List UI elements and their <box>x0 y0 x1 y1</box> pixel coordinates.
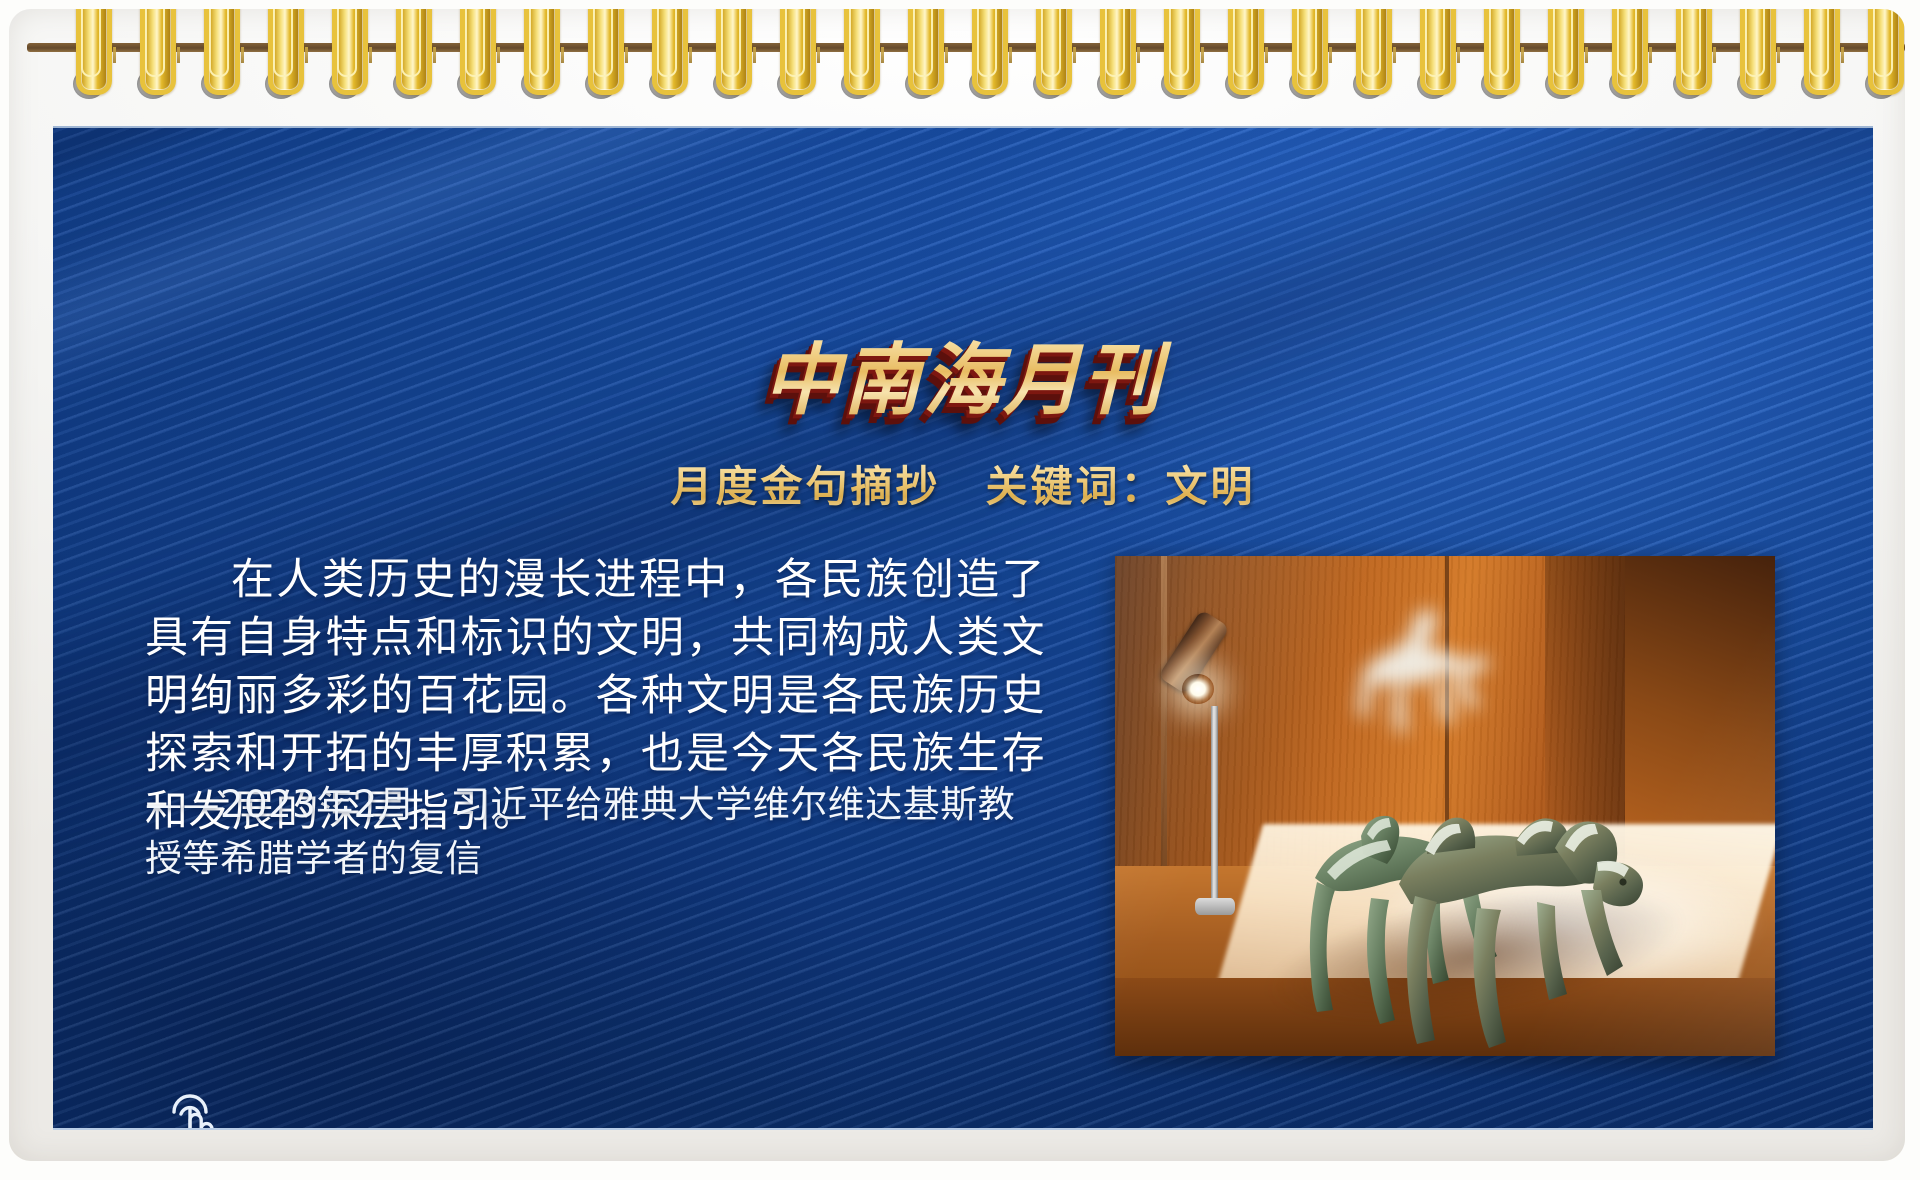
page-subtitle: 月度金句摘抄 关键词：文明 <box>53 453 1873 514</box>
spiral-ring <box>1539 9 1583 117</box>
ring-tick <box>1073 47 1076 63</box>
spiral-ring <box>451 9 495 117</box>
ring-wire-highlight <box>977 9 997 77</box>
ring-tick <box>625 47 628 63</box>
ring-wire-highlight <box>1041 9 1061 77</box>
ring-wire-highlight <box>1233 9 1253 77</box>
spiral-ring <box>1411 9 1455 117</box>
ring-wire-highlight <box>401 9 421 77</box>
spiral-ring <box>1283 9 1327 117</box>
museum-photo <box>1115 556 1775 1056</box>
page-surface: 中南海月刊 月度金句摘抄 关键词：文明 在人类历史的漫长进程中，各民族创造了具有… <box>9 9 1905 1161</box>
ring-tick <box>369 47 372 63</box>
ring-tick <box>1585 47 1588 63</box>
ring-wire-highlight <box>913 9 933 77</box>
spiral-ring <box>707 9 751 117</box>
spiral-ring <box>131 9 175 117</box>
spiral-ring <box>1091 9 1135 117</box>
ring-tick <box>305 47 308 63</box>
ring-tick <box>689 47 692 63</box>
tap-hand-icon[interactable] <box>161 1090 231 1130</box>
ring-wire-highlight <box>1617 9 1637 77</box>
spiral-ring <box>195 9 239 117</box>
slide-panel: 中南海月刊 月度金句摘抄 关键词：文明 在人类历史的漫长进程中，各民族创造了具有… <box>53 126 1873 1130</box>
ring-tick <box>1009 47 1012 63</box>
ring-wire-highlight <box>1745 9 1765 77</box>
ring-tick <box>177 47 180 63</box>
spiral-ring <box>67 9 111 117</box>
spiral-ring <box>323 9 367 117</box>
ring-tick <box>1201 47 1204 63</box>
ring-tick <box>881 47 884 63</box>
ring-wire-highlight <box>1873 9 1893 77</box>
ring-wire-highlight <box>529 9 549 77</box>
spiral-ring <box>643 9 687 117</box>
ring-wire-highlight <box>465 9 485 77</box>
spiral-ring <box>1155 9 1199 117</box>
ring-tick <box>1265 47 1268 63</box>
ring-tick <box>1777 47 1780 63</box>
ring-wire-highlight <box>209 9 229 77</box>
ring-wire-highlight <box>1553 9 1573 77</box>
spiral-ring <box>1795 9 1839 117</box>
ring-tick <box>817 47 820 63</box>
spiral-ring <box>515 9 559 117</box>
spiral-ring <box>259 9 303 117</box>
ring-tick <box>561 47 564 63</box>
ring-tick <box>945 47 948 63</box>
photo-spotlight-bulb <box>1182 674 1214 704</box>
spiral-ring <box>771 9 815 117</box>
quote-attribution: ——2023年2月，习近平给雅典大学维尔维达基斯教授等希腊学者的复信 <box>145 778 1045 886</box>
ring-wire-highlight <box>273 9 293 77</box>
ring-wire-highlight <box>1489 9 1509 77</box>
ring-wire-highlight <box>337 9 357 77</box>
photo-spotlight-base <box>1195 898 1235 915</box>
ring-tick <box>753 47 756 63</box>
ring-tick <box>1521 47 1524 63</box>
spiral-ring <box>1475 9 1519 117</box>
spiral-ring <box>1667 9 1711 117</box>
ring-wire-highlight <box>81 9 101 77</box>
ring-tick <box>241 47 244 63</box>
ring-tick <box>1649 47 1652 63</box>
spiral-ring <box>1219 9 1263 117</box>
ring-tick <box>1713 47 1716 63</box>
notebook-page: 中南海月刊 月度金句摘抄 关键词：文明 在人类历史的漫长进程中，各民族创造了具有… <box>0 0 1920 1180</box>
photo-spotlight-pole <box>1211 706 1218 906</box>
ring-tick <box>433 47 436 63</box>
ring-wire-highlight <box>1681 9 1701 77</box>
ring-wire-highlight <box>1169 9 1189 77</box>
spiral-ring <box>963 9 1007 117</box>
spiral-ring <box>579 9 623 117</box>
ring-tick <box>1393 47 1396 63</box>
spiral-ring <box>1731 9 1775 117</box>
ring-tick <box>1457 47 1460 63</box>
ring-tick <box>1137 47 1140 63</box>
ring-wire-highlight <box>145 9 165 77</box>
ring-wire-highlight <box>1361 9 1381 77</box>
ring-wire-highlight <box>1105 9 1125 77</box>
ring-wire-highlight <box>657 9 677 77</box>
spiral-ring <box>899 9 943 117</box>
ring-wire-highlight <box>849 9 869 77</box>
ring-tick <box>1329 47 1332 63</box>
spiral-ring <box>1027 9 1071 117</box>
spiral-ring <box>1347 9 1391 117</box>
page-frame: 中南海月刊 月度金句摘抄 关键词：文明 在人类历史的漫长进程中，各民族创造了具有… <box>4 4 1910 1166</box>
spiral-ring <box>835 9 879 117</box>
ring-wire-highlight <box>721 9 741 77</box>
spiral-binding <box>9 9 1905 123</box>
page-title: 中南海月刊 <box>53 318 1873 430</box>
ring-wire-highlight <box>1297 9 1317 77</box>
ring-wire-highlight <box>1809 9 1829 77</box>
ring-tick <box>1841 47 1844 63</box>
spiral-ring <box>387 9 431 117</box>
ring-tick <box>113 47 116 63</box>
ring-tick <box>497 47 500 63</box>
ring-wire-highlight <box>785 9 805 77</box>
ring-wire-highlight <box>593 9 613 77</box>
photo-camel-front <box>1365 756 1665 1048</box>
ring-wire-highlight <box>1425 9 1445 77</box>
spiral-ring <box>1859 9 1903 117</box>
spiral-ring <box>1603 9 1647 117</box>
